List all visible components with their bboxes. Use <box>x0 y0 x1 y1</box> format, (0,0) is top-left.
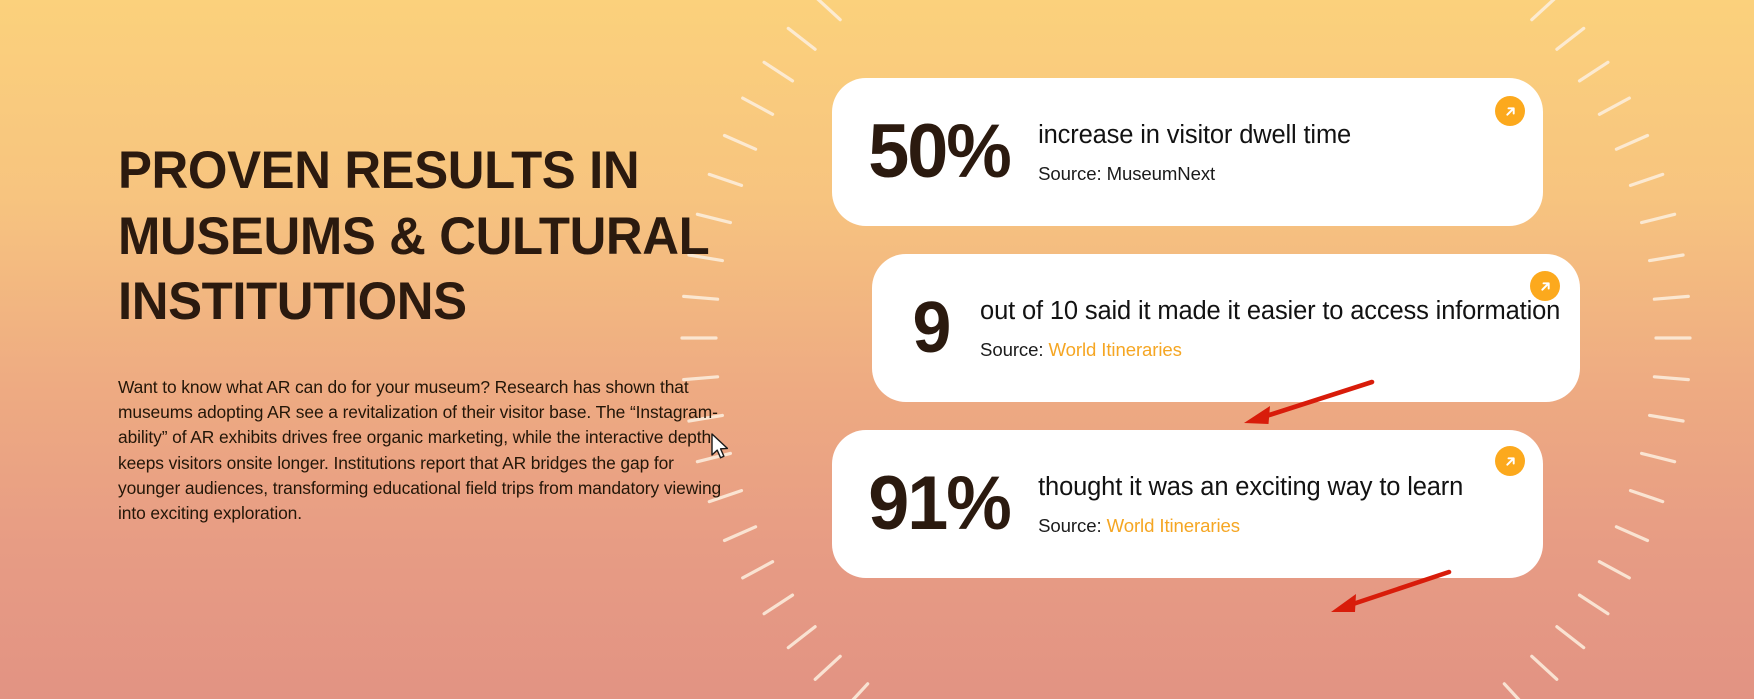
arrow-up-right-icon <box>1503 104 1518 119</box>
source-prefix-label: Source: <box>980 339 1043 360</box>
stat-text-block: out of 10 said it made it easier to acce… <box>980 295 1562 361</box>
stat-card-91-percent[interactable]: 91% thought it was an exciting way to le… <box>832 430 1543 578</box>
stat-label: increase in visitor dwell time <box>1038 119 1525 152</box>
intro-paragraph: Want to know what AR can do for your mus… <box>118 375 730 526</box>
stat-label: thought it was an exciting way to learn <box>1038 471 1525 504</box>
card-link-badge[interactable] <box>1530 271 1560 301</box>
source-link[interactable]: World Itineraries <box>1107 515 1240 536</box>
stat-number: 91% <box>868 466 1010 542</box>
card-link-badge[interactable] <box>1495 96 1525 126</box>
page-title: Proven results in museums & cultural ins… <box>118 138 732 335</box>
card-link-badge[interactable] <box>1495 446 1525 476</box>
stat-card-content: 9 out of 10 said it made it easier to ac… <box>872 254 1580 402</box>
stat-label: out of 10 said it made it easier to acce… <box>980 295 1562 328</box>
stat-source: Source: World Itineraries <box>1038 515 1525 537</box>
stat-card-content: 91% thought it was an exciting way to le… <box>832 430 1543 578</box>
arrow-up-right-icon <box>1538 279 1553 294</box>
source-name: MuseumNext <box>1107 163 1216 184</box>
stat-card-content: 50% increase in visitor dwell time Sourc… <box>832 78 1543 226</box>
stat-text-block: thought it was an exciting way to learn … <box>1038 471 1525 537</box>
source-link[interactable]: World Itineraries <box>1049 339 1182 360</box>
stat-card-9-out-of-10[interactable]: 9 out of 10 said it made it easier to ac… <box>872 254 1580 402</box>
stat-text-block: increase in visitor dwell time Source: M… <box>1038 119 1525 185</box>
arrow-up-right-icon <box>1503 454 1518 469</box>
intro-column: Proven results in museums & cultural ins… <box>118 138 758 335</box>
stat-number: 50% <box>868 114 1010 190</box>
stat-source: Source: World Itineraries <box>980 339 1562 361</box>
stat-source: Source: MuseumNext <box>1038 163 1525 185</box>
source-prefix-label: Source: <box>1038 163 1101 184</box>
stat-card-50-percent[interactable]: 50% increase in visitor dwell time Sourc… <box>832 78 1543 226</box>
stat-number: 9 <box>907 292 950 364</box>
source-prefix-label: Source: <box>1038 515 1101 536</box>
page-root: Proven results in museums & cultural ins… <box>0 0 1754 699</box>
